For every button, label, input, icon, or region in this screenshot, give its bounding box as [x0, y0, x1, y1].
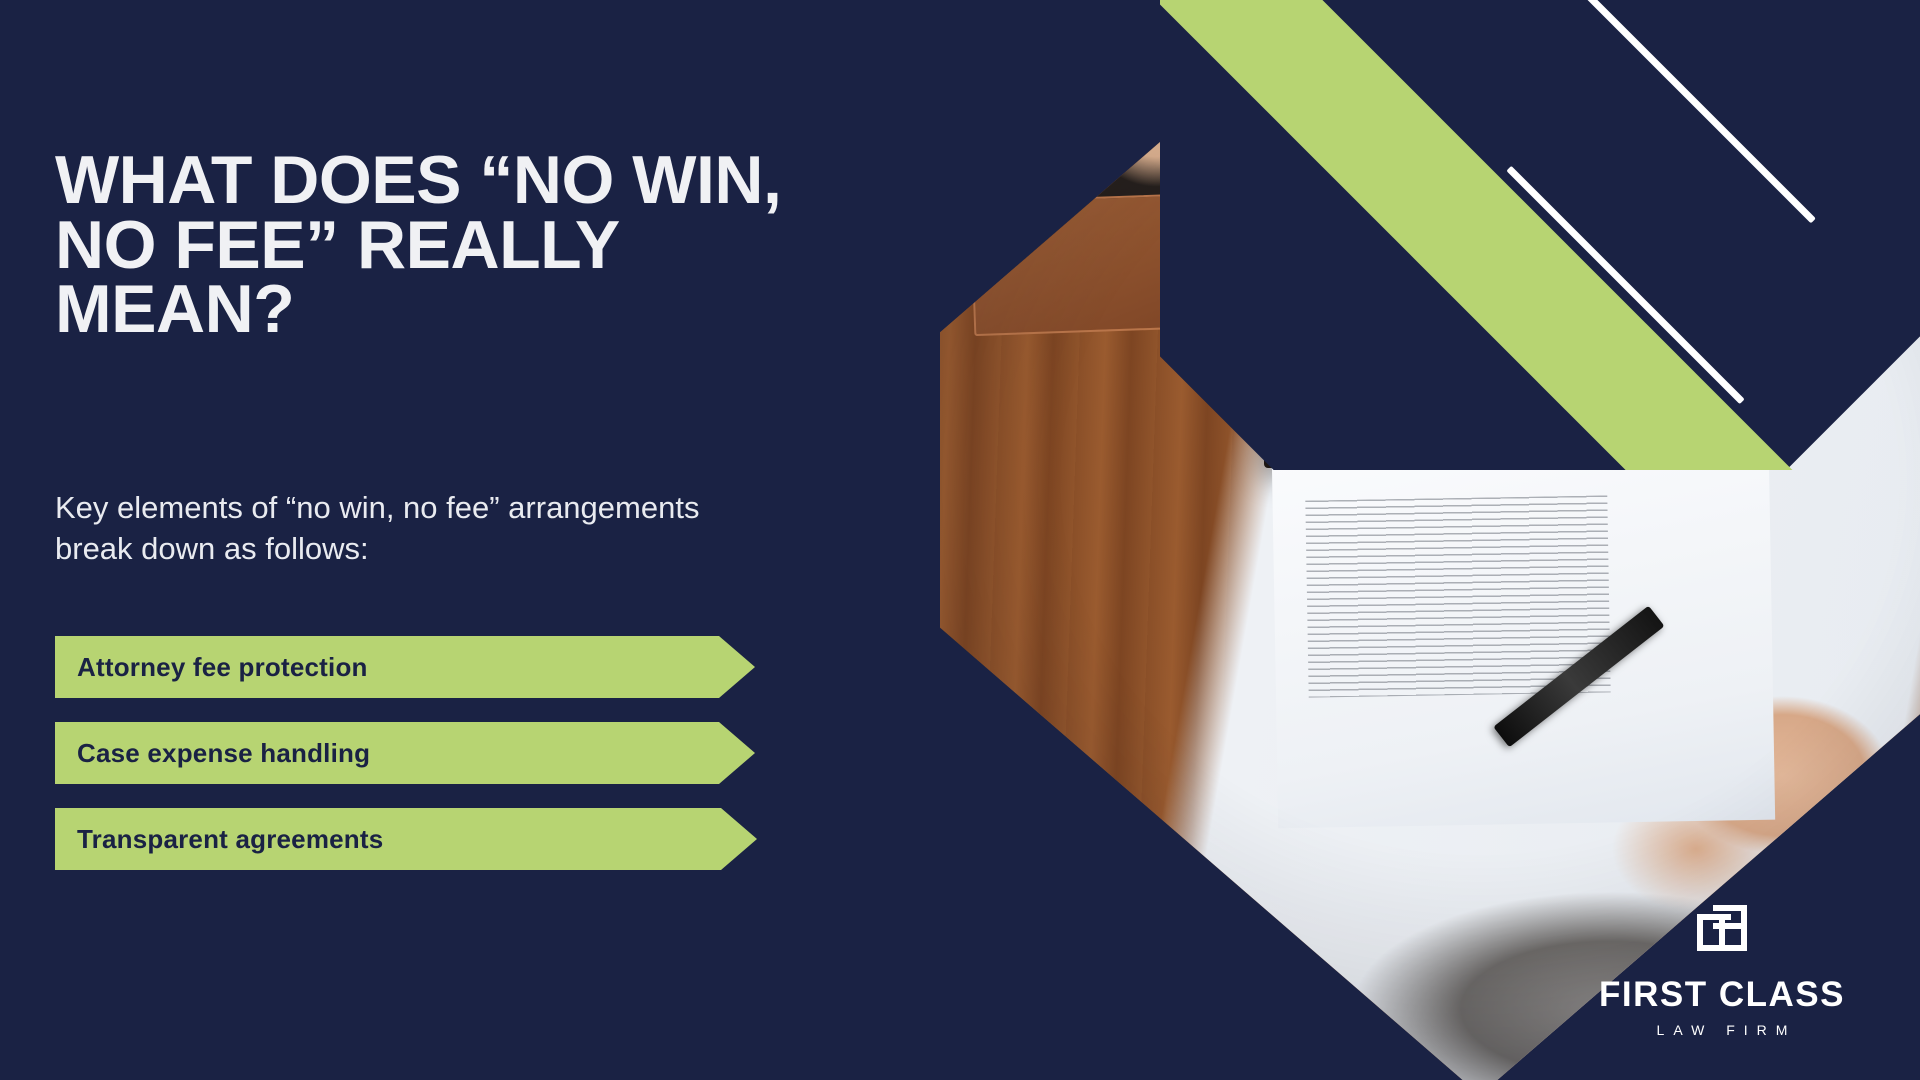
list-item[interactable]: Case expense handling — [55, 722, 755, 784]
logo-tagline: LAW FIRM — [1572, 1022, 1872, 1038]
slide-canvas: WHAT DOES “NO WIN, NO FEE” REALLY MEAN? … — [0, 0, 1920, 1080]
list-item-label: Attorney fee protection — [55, 652, 368, 683]
key-elements-list: Attorney fee protection Case expense han… — [55, 636, 875, 894]
content-column: WHAT DOES “NO WIN, NO FEE” REALLY MEAN? … — [55, 0, 885, 1080]
logo-brand-name: FIRST CLASS — [1572, 977, 1872, 1012]
list-item[interactable]: Attorney fee protection — [55, 636, 755, 698]
list-item-label: Transparent agreements — [55, 824, 383, 855]
list-item-label: Case expense handling — [55, 738, 370, 769]
subtitle: Key elements of “no win, no fee” arrange… — [55, 487, 745, 569]
brand-logo[interactable]: FIRST CLASS LAW FIRM — [1572, 901, 1872, 1038]
list-item[interactable]: Transparent agreements — [55, 808, 757, 870]
page-title: WHAT DOES “NO WIN, NO FEE” REALLY MEAN? — [55, 148, 855, 342]
first-class-f-monogram-icon — [1691, 901, 1753, 963]
